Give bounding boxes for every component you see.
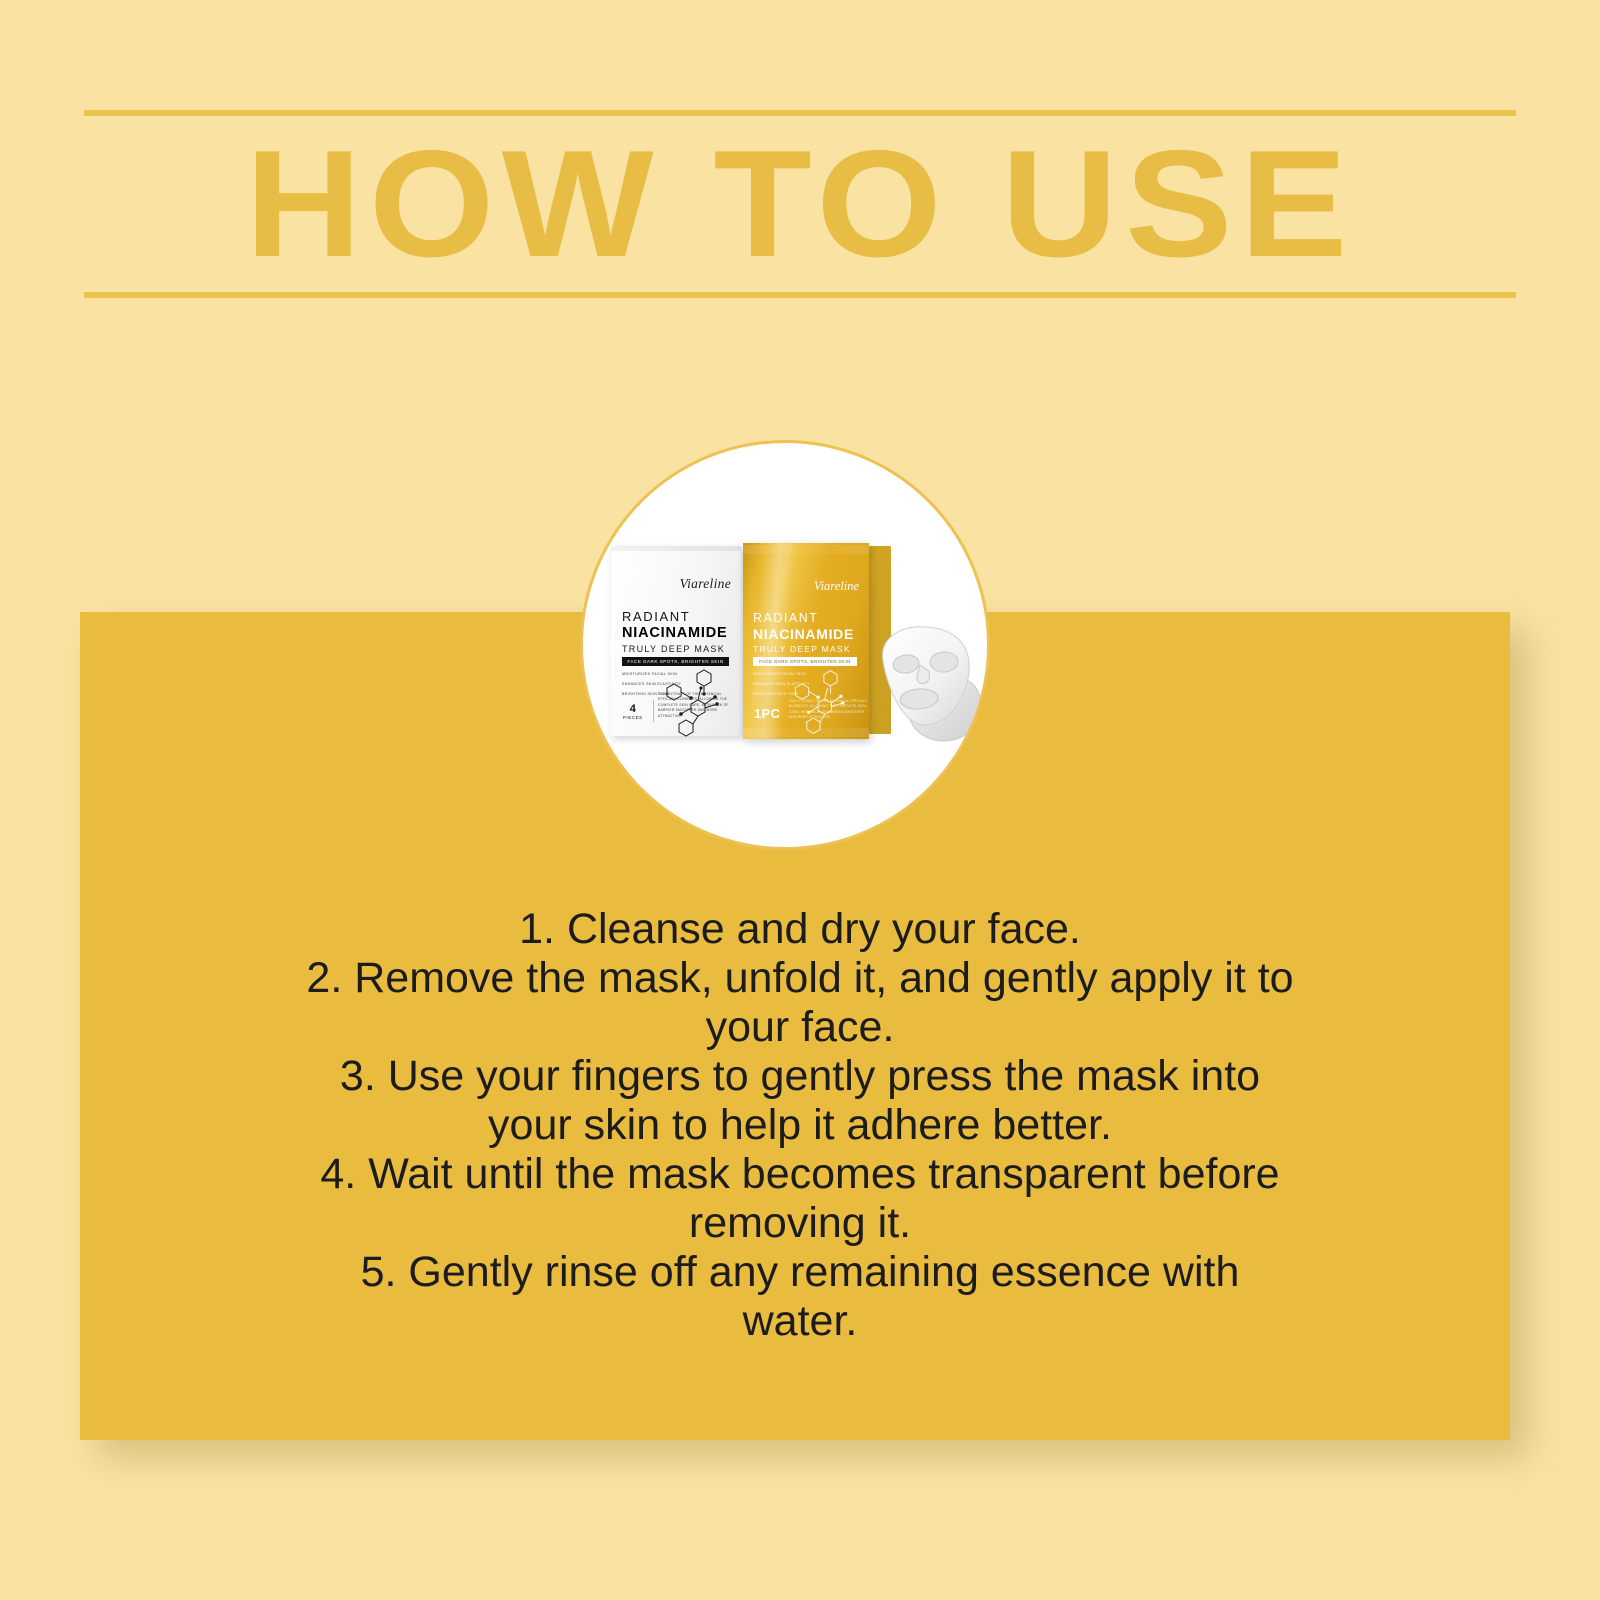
carton-line-truly-deep-mask: TRULY DEEP MASK bbox=[622, 644, 725, 654]
instruction-step: 4. Wait until the mask becomes transpare… bbox=[300, 1150, 1300, 1248]
carton-line-radiant: RADIANT bbox=[622, 609, 690, 624]
header-bottom-rule bbox=[84, 292, 1516, 298]
header: HOW TO USE bbox=[84, 110, 1516, 305]
carton-fine-print: FULL EXTRACT OF THE BOTANICAL EFFICACY E… bbox=[658, 692, 741, 719]
instruction-step: 2. Remove the mask, unfold it, and gentl… bbox=[300, 954, 1300, 1052]
sachet-line-radiant: RADIANT bbox=[753, 611, 818, 625]
carton-count-number: 4 bbox=[623, 704, 643, 715]
sheet-mask-icon bbox=[865, 621, 990, 746]
instruction-step: 1. Cleanse and dry your face. bbox=[300, 905, 1300, 954]
sachet-line-niacinamide: NIACINAMIDE bbox=[753, 626, 854, 642]
sachet-line-truly-deep-mask: TRULY DEEP MASK bbox=[753, 644, 851, 654]
carton-piece-count: 4 PIECES bbox=[623, 704, 643, 720]
product-scene: Viareline RADIANT NIACINAMIDE TRULY DEEP… bbox=[583, 443, 990, 850]
carton-brand-label: Viareline bbox=[680, 576, 731, 592]
carton-count-label: PIECES bbox=[623, 715, 643, 720]
sachet-count-label: 1PC bbox=[754, 706, 780, 721]
sachet-fine-print: FULL EXTRACT OF THE BOTANICAL EFFICACY E… bbox=[789, 699, 869, 720]
product-carton: Viareline RADIANT NIACINAMIDE TRULY DEEP… bbox=[611, 546, 741, 736]
page-title: HOW TO USE bbox=[41, 116, 1559, 292]
instructions-list: 1. Cleanse and dry your face. 2. Remove … bbox=[300, 905, 1300, 1346]
carton-count-divider bbox=[653, 700, 654, 722]
instruction-step: 3. Use your fingers to gently press the … bbox=[300, 1052, 1300, 1150]
product-photo-circle: Viareline RADIANT NIACINAMIDE TRULY DEEP… bbox=[580, 440, 990, 850]
carton-line-niacinamide: NIACINAMIDE bbox=[622, 625, 727, 641]
instruction-step: 5. Gently rinse off any remaining essenc… bbox=[300, 1248, 1300, 1346]
carton-top-flap bbox=[611, 546, 741, 551]
sachet-front: Viareline RADIANT NIACINAMIDE TRULY DEEP… bbox=[743, 543, 869, 739]
sachet-brand-label: Viareline bbox=[814, 579, 859, 594]
